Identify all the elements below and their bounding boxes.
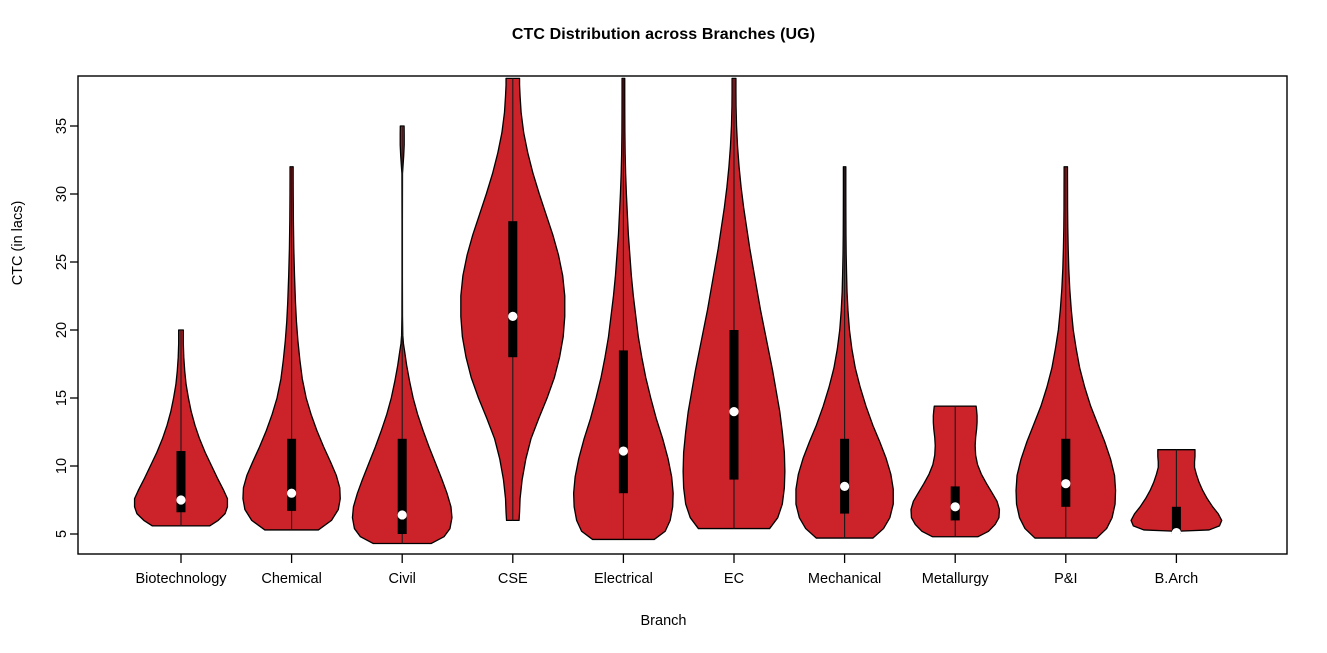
violin-biotechnology[interactable] xyxy=(135,330,228,526)
median-marker xyxy=(509,312,517,320)
violin-metallurgy[interactable] xyxy=(911,406,999,537)
iqr-box xyxy=(840,439,849,514)
median-marker xyxy=(619,447,627,455)
x-tick-label-mechanical: Mechanical xyxy=(808,571,881,587)
x-tick-label-metallurgy: Metallurgy xyxy=(922,571,990,587)
median-marker xyxy=(288,489,296,497)
iqr-box xyxy=(287,439,296,511)
violin-b-arch[interactable] xyxy=(1131,450,1222,537)
violin-cse[interactable] xyxy=(461,78,565,520)
violin-mechanical[interactable] xyxy=(796,167,893,538)
x-tick-label-b-arch: B.Arch xyxy=(1155,571,1199,587)
y-tick-label: 25 xyxy=(54,254,70,270)
plot-canvas: 5101520253035 BiotechnologyChemicalCivil… xyxy=(0,0,1327,653)
violin-electrical[interactable] xyxy=(574,78,674,539)
median-marker xyxy=(951,503,959,511)
y-tick-label: 10 xyxy=(54,458,70,474)
x-tick-label-civil: Civil xyxy=(389,571,416,587)
median-marker xyxy=(841,482,849,490)
x-tick-label-ec: EC xyxy=(724,571,744,587)
median-marker xyxy=(177,496,185,504)
y-tick-label: 15 xyxy=(54,390,70,406)
median-marker xyxy=(398,511,406,519)
violin-chemical[interactable] xyxy=(243,167,340,530)
iqr-box xyxy=(398,439,407,534)
median-marker xyxy=(1062,480,1070,488)
iqr-box xyxy=(619,350,628,493)
y-tick-label: 20 xyxy=(54,322,70,338)
x-tick-label-cse: CSE xyxy=(498,571,528,587)
x-tick-label-p-i: P&I xyxy=(1054,571,1077,587)
iqr-box xyxy=(508,221,517,357)
median-marker xyxy=(1172,529,1180,537)
iqr-box xyxy=(730,330,739,480)
y-axis-ticks: 5101520253035 xyxy=(54,118,78,538)
x-axis-ticks xyxy=(181,554,1176,563)
y-tick-label: 35 xyxy=(54,118,70,134)
violin-civil[interactable] xyxy=(352,126,452,544)
median-marker xyxy=(730,408,738,416)
violin-chart-figure: CTC Distribution across Branches (UG) CT… xyxy=(0,0,1327,653)
x-tick-label-biotechnology: Biotechnology xyxy=(135,571,227,587)
x-axis-tick-labels: BiotechnologyChemicalCivilCSEElectricalE… xyxy=(135,571,1198,587)
y-tick-label: 30 xyxy=(54,186,70,202)
x-tick-label-electrical: Electrical xyxy=(594,571,653,587)
iqr-box xyxy=(1061,439,1070,507)
y-tick-label: 5 xyxy=(54,530,70,538)
x-tick-label-chemical: Chemical xyxy=(261,571,321,587)
violin-ec[interactable] xyxy=(683,78,785,528)
violins-layer xyxy=(135,78,1222,543)
violin-p-i[interactable] xyxy=(1016,167,1116,538)
